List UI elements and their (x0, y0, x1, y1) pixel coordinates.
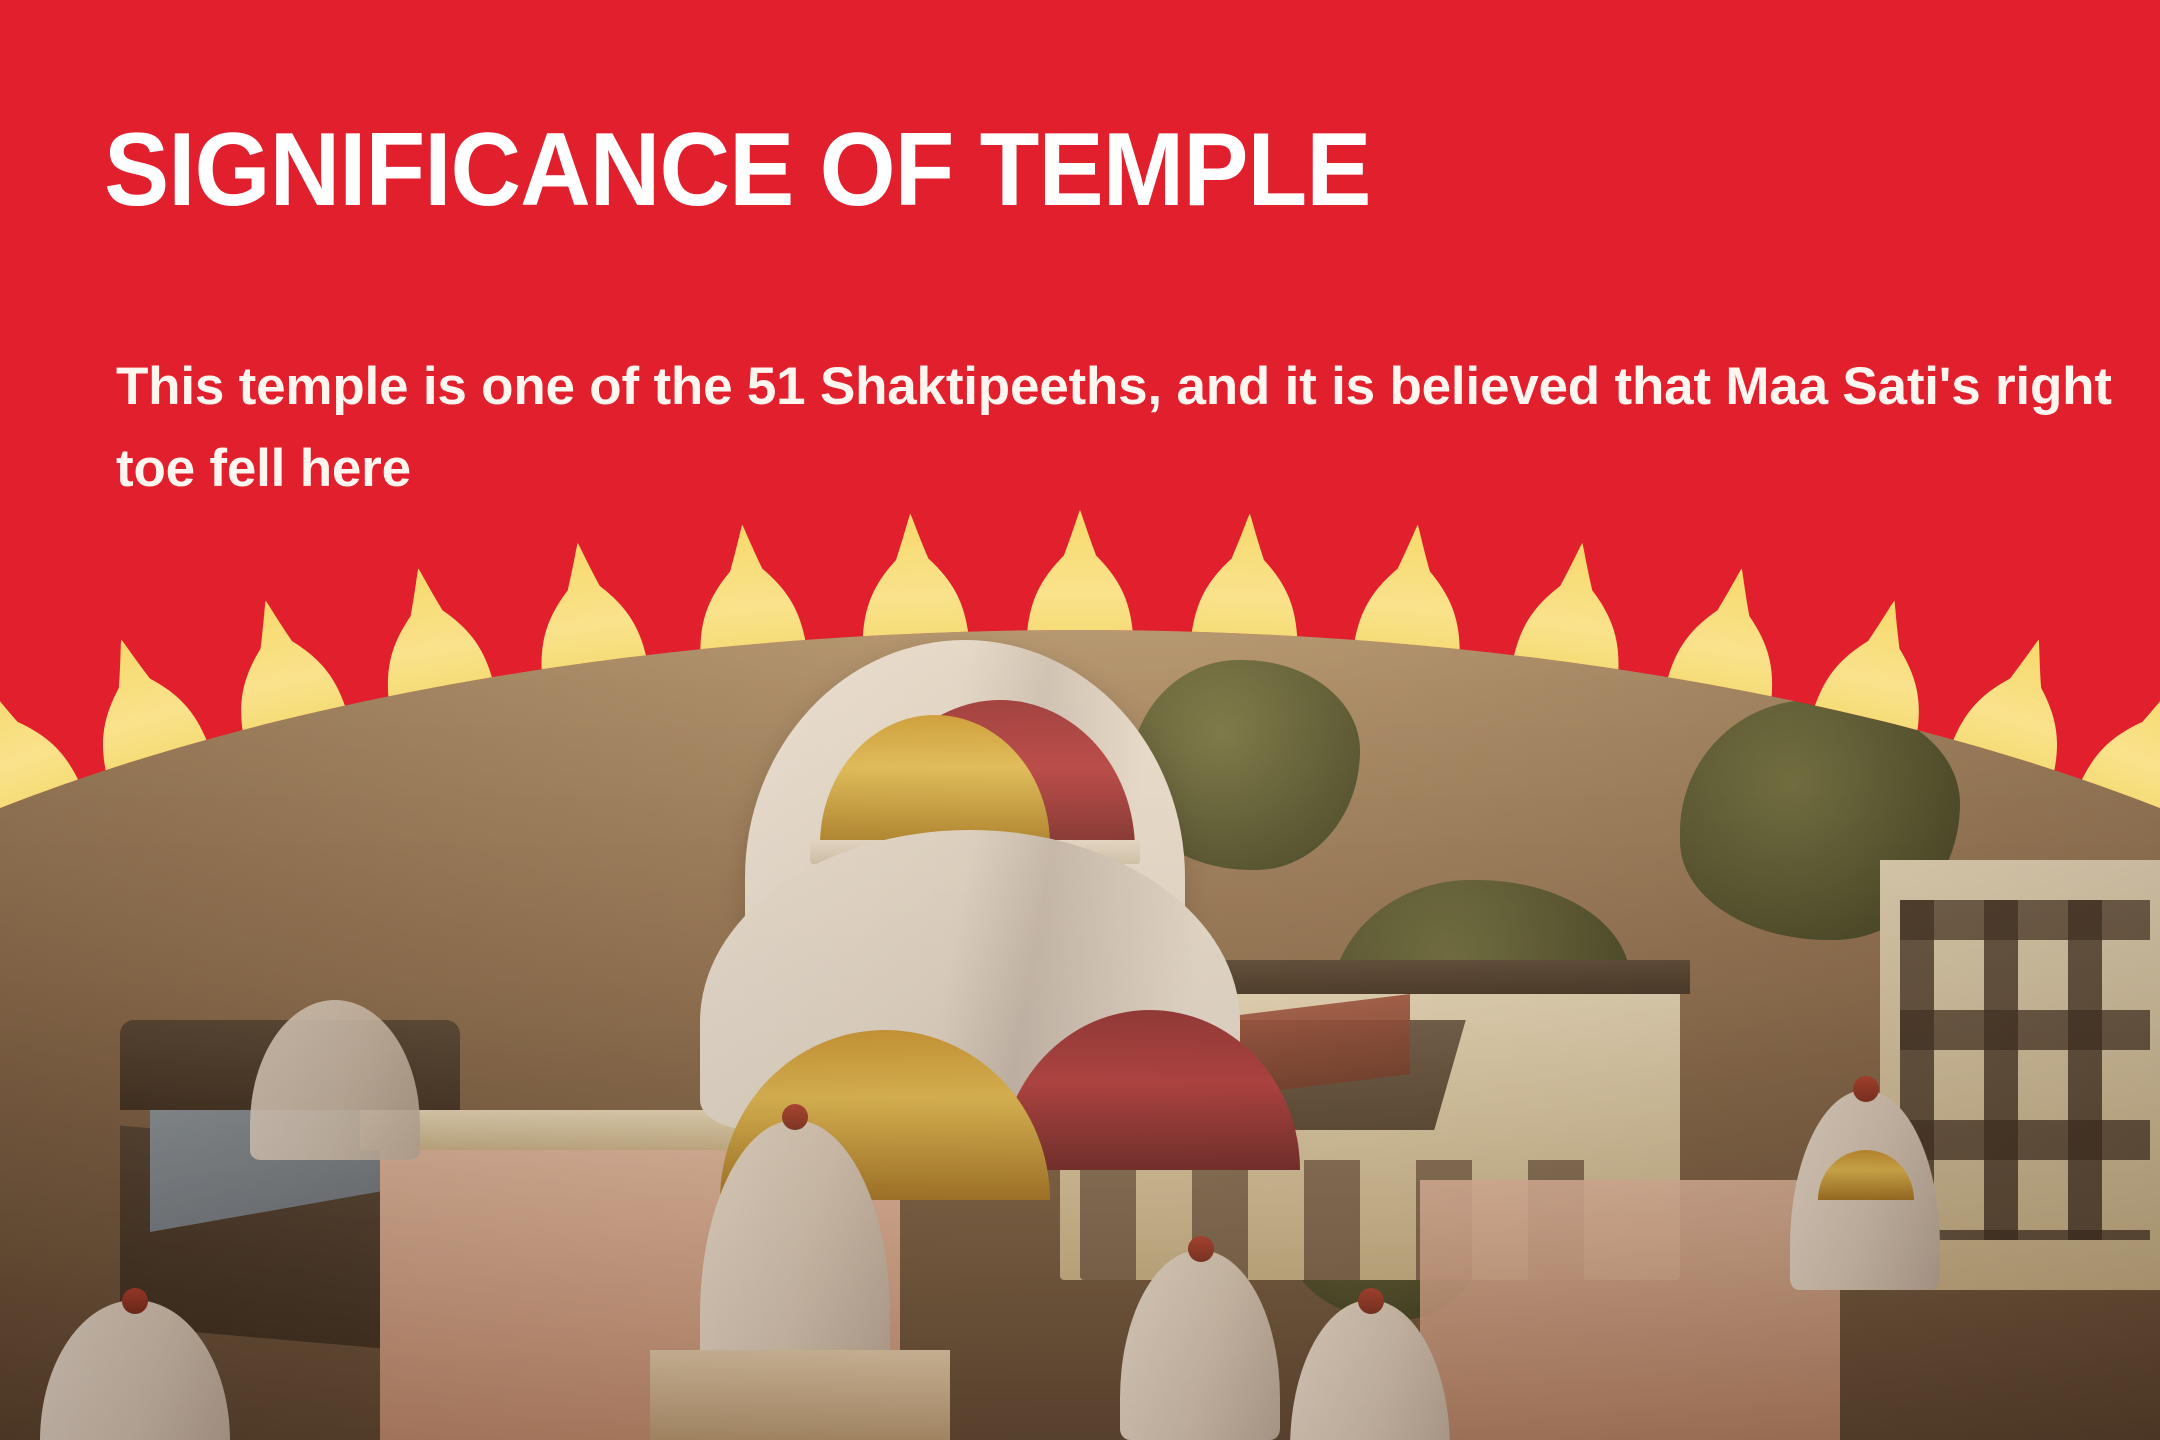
body-text: This temple is one of the 51 Shaktipeeth… (116, 346, 2126, 510)
slide-root: SIGNIFICANCE OF TEMPLE This temple is on… (0, 0, 2160, 1440)
body-line-1: This temple is one of the 51 Shaktipeeth… (116, 357, 1828, 416)
text-block: SIGNIFICANCE OF TEMPLE This temple is on… (104, 118, 2104, 222)
sky (0, 0, 2160, 130)
page-title: SIGNIFICANCE OF TEMPLE (104, 118, 1984, 222)
